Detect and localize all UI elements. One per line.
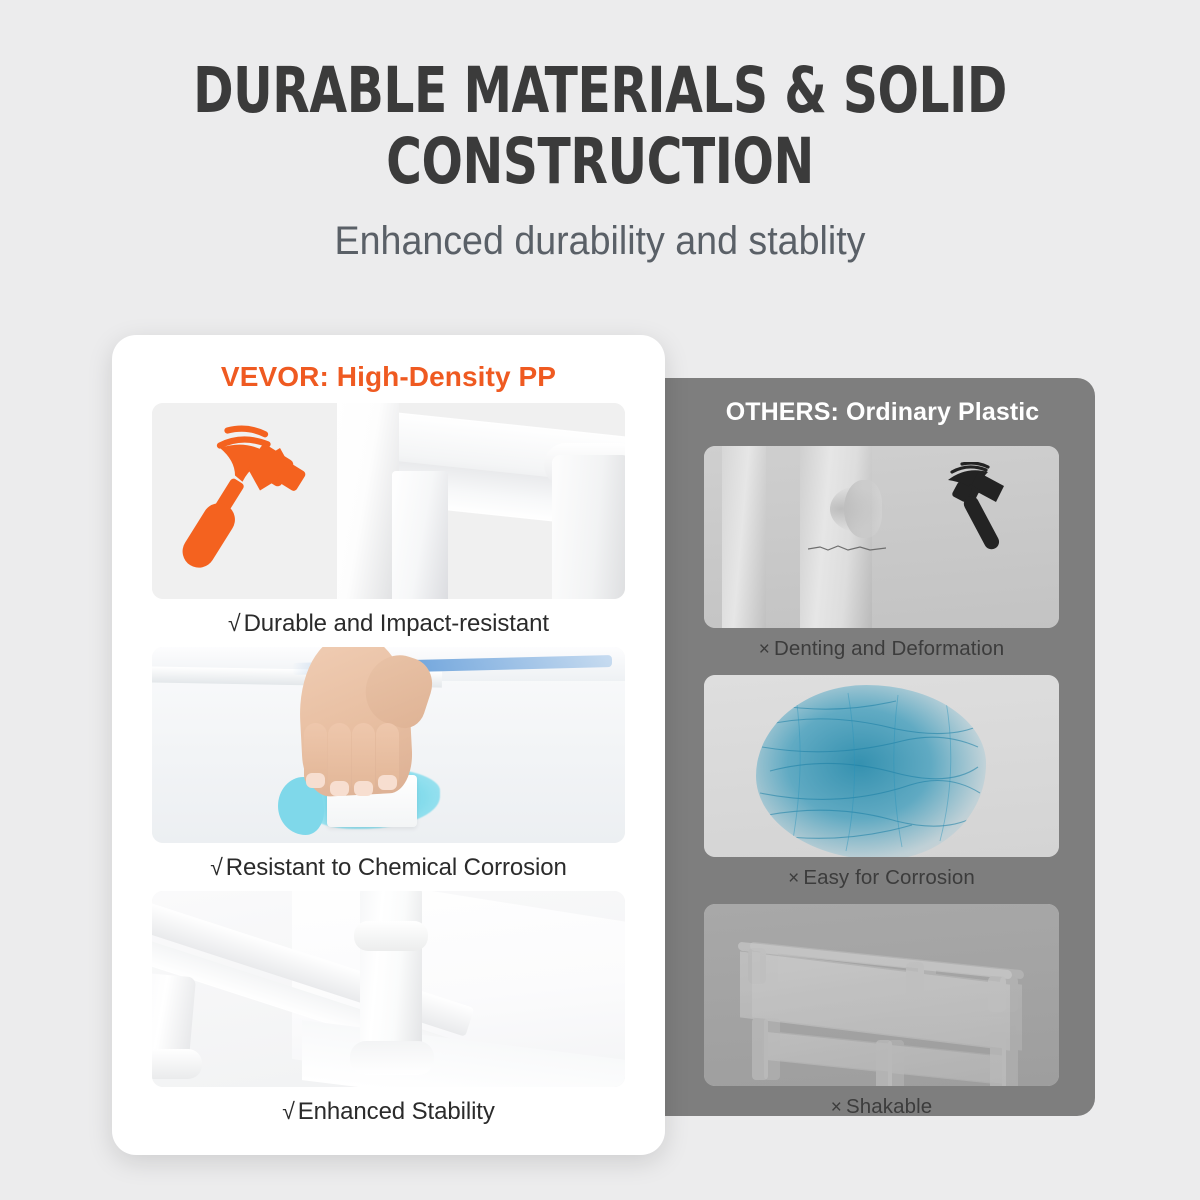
check-mark-icon: √ (210, 854, 226, 880)
vevor-card-title: VEVOR: High-Density PP (112, 335, 665, 393)
cross-mark-icon: × (788, 868, 803, 889)
cart-corner-photo (152, 891, 625, 1087)
others-item-corrosion: ×Easy for Corrosion (704, 675, 1059, 890)
header: DURABLE MATERIALS & SOLID CONSTRUCTION E… (0, 0, 1200, 264)
cart-tubes-hammer-photo (152, 403, 625, 599)
scratch-lines-icon (756, 685, 986, 857)
others-caption-3: ×Shakable (704, 1086, 1059, 1119)
others-panel-title: OTHERS: Ordinary Plastic (594, 398, 1095, 427)
others-caption-1: ×Denting and Deformation (704, 628, 1059, 661)
vevor-item-stability: √Enhanced Stability (152, 891, 625, 1126)
vevor-item-impact-resistant: √Durable and Impact-resistant (152, 403, 625, 638)
corrosion-stain-photo (704, 675, 1059, 857)
shaking-cart-photo (704, 904, 1059, 1086)
others-item-denting: ×Denting and Deformation (704, 446, 1059, 661)
hammer-icon (170, 423, 320, 573)
others-caption-2: ×Easy for Corrosion (704, 857, 1059, 890)
vevor-items-list: √Durable and Impact-resistant (152, 403, 625, 1135)
hammer-icon (918, 462, 1038, 572)
check-mark-icon: √ (282, 1098, 298, 1124)
others-item-shakable: ×Shakable (704, 904, 1059, 1119)
crack-icon (808, 544, 886, 554)
vevor-caption-2: √Resistant to Chemical Corrosion (152, 843, 625, 882)
check-mark-icon: √ (228, 610, 244, 636)
vevor-caption-3: √Enhanced Stability (152, 1087, 625, 1126)
vevor-comparison-card: VEVOR: High-Density PP (112, 335, 665, 1155)
others-items-list: ×Denting and Deformation (704, 446, 1059, 1133)
dented-tube-photo (704, 446, 1059, 628)
vevor-item-chemical-resistant: √Resistant to Chemical Corrosion (152, 647, 625, 882)
vevor-caption-1: √Durable and Impact-resistant (152, 599, 625, 638)
page-title: DURABLE MATERIALS & SOLID CONSTRUCTION (84, 0, 1116, 197)
hand-wiping-photo (152, 647, 625, 843)
page-subtitle: Enhanced durability and stablity (36, 197, 1164, 264)
cross-mark-icon: × (831, 1097, 846, 1118)
cross-mark-icon: × (759, 639, 774, 660)
others-comparison-panel: OTHERS: Ordinary Plastic (594, 378, 1095, 1116)
